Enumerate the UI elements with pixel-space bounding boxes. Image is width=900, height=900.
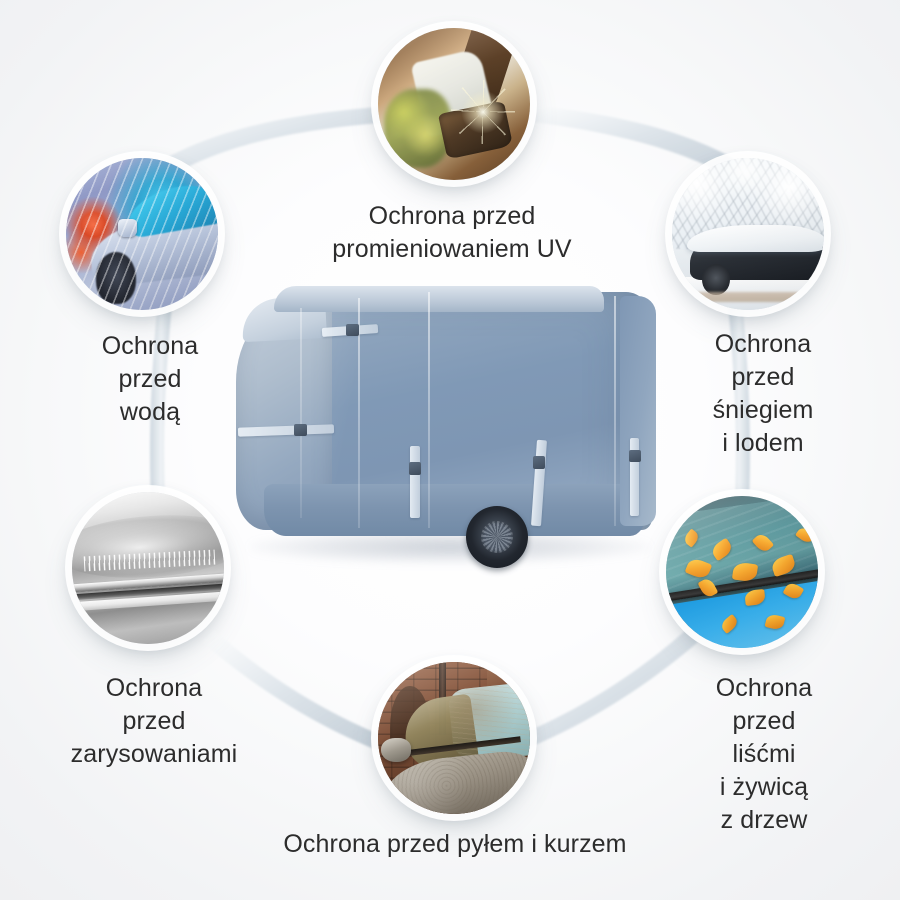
feature-label-dust: Ochrona przed pyłem i kurzem: [240, 828, 670, 861]
feature-photo-dust: [378, 662, 530, 814]
circle-gloss: [378, 28, 530, 180]
product-image-camper-cover: [228, 278, 668, 578]
cover-roof: [274, 286, 604, 312]
feature-photo-scratch: [72, 492, 224, 644]
cover-seam: [300, 308, 302, 518]
circle-gloss: [666, 496, 818, 648]
cover-seam: [428, 292, 430, 528]
cover-buckle: [533, 456, 545, 469]
infographic-canvas: Ochrona przed promieniowaniem UV Ochrona…: [0, 0, 900, 900]
feature-label-leaves: Ochrona przed liśćmi i żywicą z drzew: [662, 672, 866, 837]
circle-gloss: [672, 158, 824, 310]
cover-buckle: [294, 424, 307, 436]
feature-label-uv: Ochrona przed promieniowaniem UV: [296, 200, 608, 266]
cover-strap: [410, 446, 420, 518]
feature-photo-snow: [672, 158, 824, 310]
circle-gloss: [66, 158, 218, 310]
cover-seam: [614, 296, 616, 526]
circle-gloss: [378, 662, 530, 814]
cover-buckle: [629, 450, 641, 462]
feature-photo-leaves: [666, 496, 818, 648]
feature-label-scratch: Ochrona przed zarysowaniami: [36, 672, 272, 771]
feature-label-snow: Ochrona przed śniegiem i lodem: [660, 328, 866, 460]
feature-photo-uv: [378, 28, 530, 180]
cover-skirt: [264, 484, 646, 536]
exposed-wheel: [466, 506, 528, 568]
cover-buckle: [346, 324, 359, 336]
circle-gloss: [72, 492, 224, 644]
feature-label-water: Ochrona przed wodą: [44, 330, 256, 429]
feature-photo-water: [66, 158, 218, 310]
cover-buckle: [409, 462, 421, 475]
